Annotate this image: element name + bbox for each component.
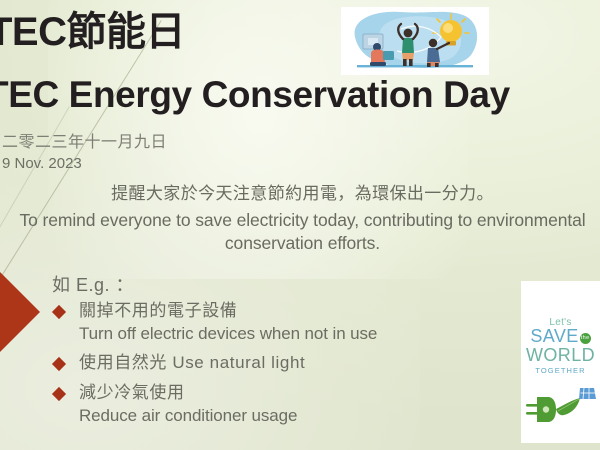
illustration-svg <box>341 7 489 75</box>
example-label: 如 E.g. ： <box>52 271 134 297</box>
date-chinese: 二零二三年十一月九日 <box>2 128 167 152</box>
decorative-left-diamond <box>0 271 40 353</box>
plug-center-dot <box>543 406 549 412</box>
plug-prong-bottom <box>526 412 538 415</box>
diamond-bullet-icon <box>52 357 66 371</box>
diamond-bullet-icon <box>52 305 66 319</box>
logo-inner: Let's SAVEthe WORLD TOGETHER <box>521 281 600 443</box>
reminder-chinese: 提醒大家於今天注意節約用電，為環保出一分力。 <box>10 183 595 206</box>
list-item: 使用自然光 Use natural light <box>52 352 552 375</box>
logo-text-block: Let's SAVEthe WORLD TOGETHER <box>521 317 600 375</box>
save-the-world-logo: Let's SAVEthe WORLD TOGETHER <box>521 281 600 443</box>
page-title-english: TEC Energy Conservation Day <box>0 76 510 113</box>
list-item-chinese: 減少冷氣使用 <box>79 382 552 405</box>
logo-save-text: SAVE <box>530 326 578 346</box>
list-item: 減少冷氣使用 Reduce air conditioner usage <box>52 382 552 427</box>
list-item: 關掉不用的電子設備 Turn off electric devices when… <box>52 300 552 345</box>
diamond-bullet-icon <box>52 387 66 401</box>
date-english: 9 Nov. 2023 <box>2 155 82 172</box>
list-item-chinese: 使用自然光 Use natural light <box>79 352 552 375</box>
logo-world-text: WORLD <box>521 346 600 365</box>
page-title-chinese: TEC節能日 <box>0 12 185 52</box>
slide-canvas: TEC節能日 TEC Energy Conservation Day 二零二三年… <box>0 0 600 450</box>
green-plug-leaf-solar-panel-icon <box>524 385 598 435</box>
reminder-paragraph: 提醒大家於今天注意節約用電，為環保出一分力。 To remind everyon… <box>10 183 595 254</box>
list-item-chinese: 關掉不用的電子設備 <box>79 300 552 323</box>
example-bullet-list: 關掉不用的電子設備 Turn off electric devices when… <box>52 300 552 434</box>
list-item-english: Reduce air conditioner usage <box>79 405 552 427</box>
energy-teamwork-illustration <box>341 7 489 75</box>
logo-together-text: TOGETHER <box>521 366 600 375</box>
list-item-english: Turn off electric devices when not in us… <box>79 323 552 345</box>
logo-the-badge: the <box>580 333 591 344</box>
logo-save-row: SAVEthe <box>521 327 600 346</box>
reminder-english: To remind everyone to save electricity t… <box>10 209 595 255</box>
solar-panel-icon <box>579 388 596 399</box>
bulb-shine <box>443 23 453 33</box>
plug-prong-top <box>526 404 538 407</box>
